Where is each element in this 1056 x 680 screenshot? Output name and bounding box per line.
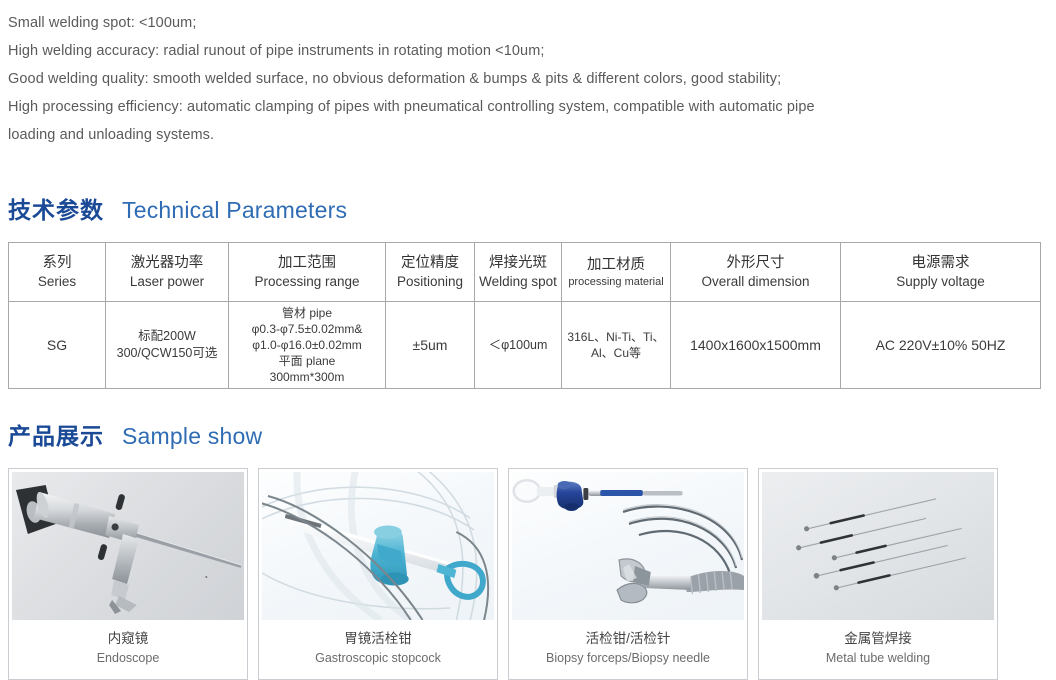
header-en: Welding spot — [477, 273, 559, 291]
intro-line: High welding accuracy: radial runout of … — [8, 37, 1048, 65]
caption-en: Metal tube welding — [763, 649, 993, 668]
table-header-cell-laser-power: 激光器功率 Laser power — [106, 243, 229, 302]
table-cell-supply-voltage: AC 220V±10% 50HZ — [841, 302, 1041, 389]
intro-line: loading and unloading systems. — [8, 121, 1048, 149]
caption-en: Biopsy forceps/Biopsy needle — [513, 649, 743, 668]
caption-cn: 内窥镜 — [13, 629, 243, 649]
sample-caption-metal-tube-welding: 金属管焊接 Metal tube welding — [759, 620, 997, 679]
header-en: Laser power — [108, 273, 226, 291]
header-cn: 系列 — [11, 253, 103, 273]
sample-caption-gastroscopic-stopcock: 胃镜活栓钳 Gastroscopic stopcock — [259, 620, 497, 679]
caption-cn: 金属管焊接 — [763, 629, 993, 649]
header-cn: 加工材质 — [564, 255, 668, 275]
table-cell-laser-power: 标配200W 300/QCW150可选 — [106, 302, 229, 389]
header-cn: 激光器功率 — [108, 253, 226, 273]
gastroscopic-stopcock-illustration — [262, 472, 494, 620]
caption-cn: 胃镜活栓钳 — [263, 629, 493, 649]
cell-value: ＜φ100um — [477, 337, 559, 354]
technical-parameters-heading: 技术参数 Technical Parameters — [0, 191, 1056, 225]
cell-value: 1400x1600x1500mm — [673, 336, 838, 355]
sample-card-biopsy-forceps[interactable]: 活检钳/活检针 Biopsy forceps/Biopsy needle — [508, 468, 748, 680]
caption-cn: 活检钳/活检针 — [513, 629, 743, 649]
table-header-cell-supply-voltage: 电源需求 Supply voltage — [841, 243, 1041, 302]
sample-show-heading: 产品展示 Sample show — [0, 417, 1056, 451]
parameters-table-wrapper: 系列 Series 激光器功率 Laser power 加工范围 Process… — [0, 242, 1056, 389]
sample-cards-row: 内窥镜 Endoscope — [0, 468, 1056, 680]
table-header-cell-overall-dimension: 外形尺寸 Overall dimension — [671, 243, 841, 302]
intro-line: High processing efficiency: automatic cl… — [8, 93, 1048, 121]
sample-caption-endoscope: 内窥镜 Endoscope — [9, 620, 247, 679]
cell-value: 管材 pipe φ0.3-φ7.5±0.02mm& φ1.0-φ16.0±0.0… — [231, 305, 383, 385]
intro-line: Good welding quality: smooth welded surf… — [8, 65, 1048, 93]
table-header-cell-welding-spot: 焊接光斑 Welding spot — [475, 243, 562, 302]
heading-english-label: Sample show — [122, 423, 262, 450]
intro-text-block: Small welding spot: <100um; High welding… — [0, 0, 1056, 149]
header-cn: 外形尺寸 — [673, 253, 838, 273]
table-header-cell-processing-material: 加工材质 processing material — [562, 243, 671, 302]
table-cell-processing-material: 316L、Ni-Ti、Ti、 Al、Cu等 — [562, 302, 671, 389]
table-header-cell-positioning: 定位精度 Positioning — [386, 243, 475, 302]
header-en: Series — [11, 273, 103, 291]
cell-value: SG — [11, 336, 103, 355]
header-en: processing material — [564, 275, 668, 290]
sample-card-endoscope[interactable]: 内窥镜 Endoscope — [8, 468, 248, 680]
cell-value: AC 220V±10% 50HZ — [843, 336, 1038, 355]
header-en: Overall dimension — [673, 273, 838, 291]
header-cn: 电源需求 — [843, 253, 1038, 273]
table-row: SG 标配200W 300/QCW150可选 管材 pipe φ0.3-φ7.5… — [9, 302, 1041, 389]
table-header-cell-series: 系列 Series — [9, 243, 106, 302]
biopsy-forceps-illustration — [512, 472, 744, 620]
heading-chinese-label: 技术参数 — [8, 191, 104, 225]
heading-english-label: Technical Parameters — [122, 197, 347, 224]
intro-line: Small welding spot: <100um; — [8, 9, 1048, 37]
table-cell-positioning: ±5um — [386, 302, 475, 389]
cell-value: ±5um — [388, 336, 472, 355]
header-cn: 焊接光斑 — [477, 253, 559, 273]
header-en: Positioning — [388, 273, 472, 291]
metal-tube-welding-illustration — [762, 472, 994, 620]
caption-en: Gastroscopic stopcock — [263, 649, 493, 668]
table-cell-overall-dimension: 1400x1600x1500mm — [671, 302, 841, 389]
sample-card-metal-tube-welding[interactable]: 金属管焊接 Metal tube welding — [758, 468, 998, 680]
sample-caption-biopsy-forceps: 活检钳/活检针 Biopsy forceps/Biopsy needle — [509, 620, 747, 679]
cell-value: 316L、Ni-Ti、Ti、 Al、Cu等 — [564, 329, 668, 361]
cell-value: 标配200W 300/QCW150可选 — [108, 328, 226, 362]
table-cell-processing-range: 管材 pipe φ0.3-φ7.5±0.02mm& φ1.0-φ16.0±0.0… — [229, 302, 386, 389]
header-cn: 定位精度 — [388, 253, 472, 273]
table-cell-series: SG — [9, 302, 106, 389]
endoscope-photo — [12, 472, 244, 620]
header-cn: 加工范围 — [231, 253, 383, 273]
table-header-cell-processing-range: 加工范围 Processing range — [229, 243, 386, 302]
table-cell-welding-spot: ＜φ100um — [475, 302, 562, 389]
header-en: Supply voltage — [843, 273, 1038, 291]
heading-chinese-label: 产品展示 — [8, 417, 104, 451]
technical-parameters-table: 系列 Series 激光器功率 Laser power 加工范围 Process… — [8, 242, 1041, 389]
sample-card-gastroscopic-stopcock[interactable]: 胃镜活栓钳 Gastroscopic stopcock — [258, 468, 498, 680]
caption-en: Endoscope — [13, 649, 243, 668]
endoscope-illustration — [12, 472, 244, 620]
biopsy-forceps-photo — [512, 472, 744, 620]
table-header-row: 系列 Series 激光器功率 Laser power 加工范围 Process… — [9, 243, 1041, 302]
gastroscopic-stopcock-photo — [262, 472, 494, 620]
metal-tube-welding-photo — [762, 472, 994, 620]
header-en: Processing range — [231, 273, 383, 291]
